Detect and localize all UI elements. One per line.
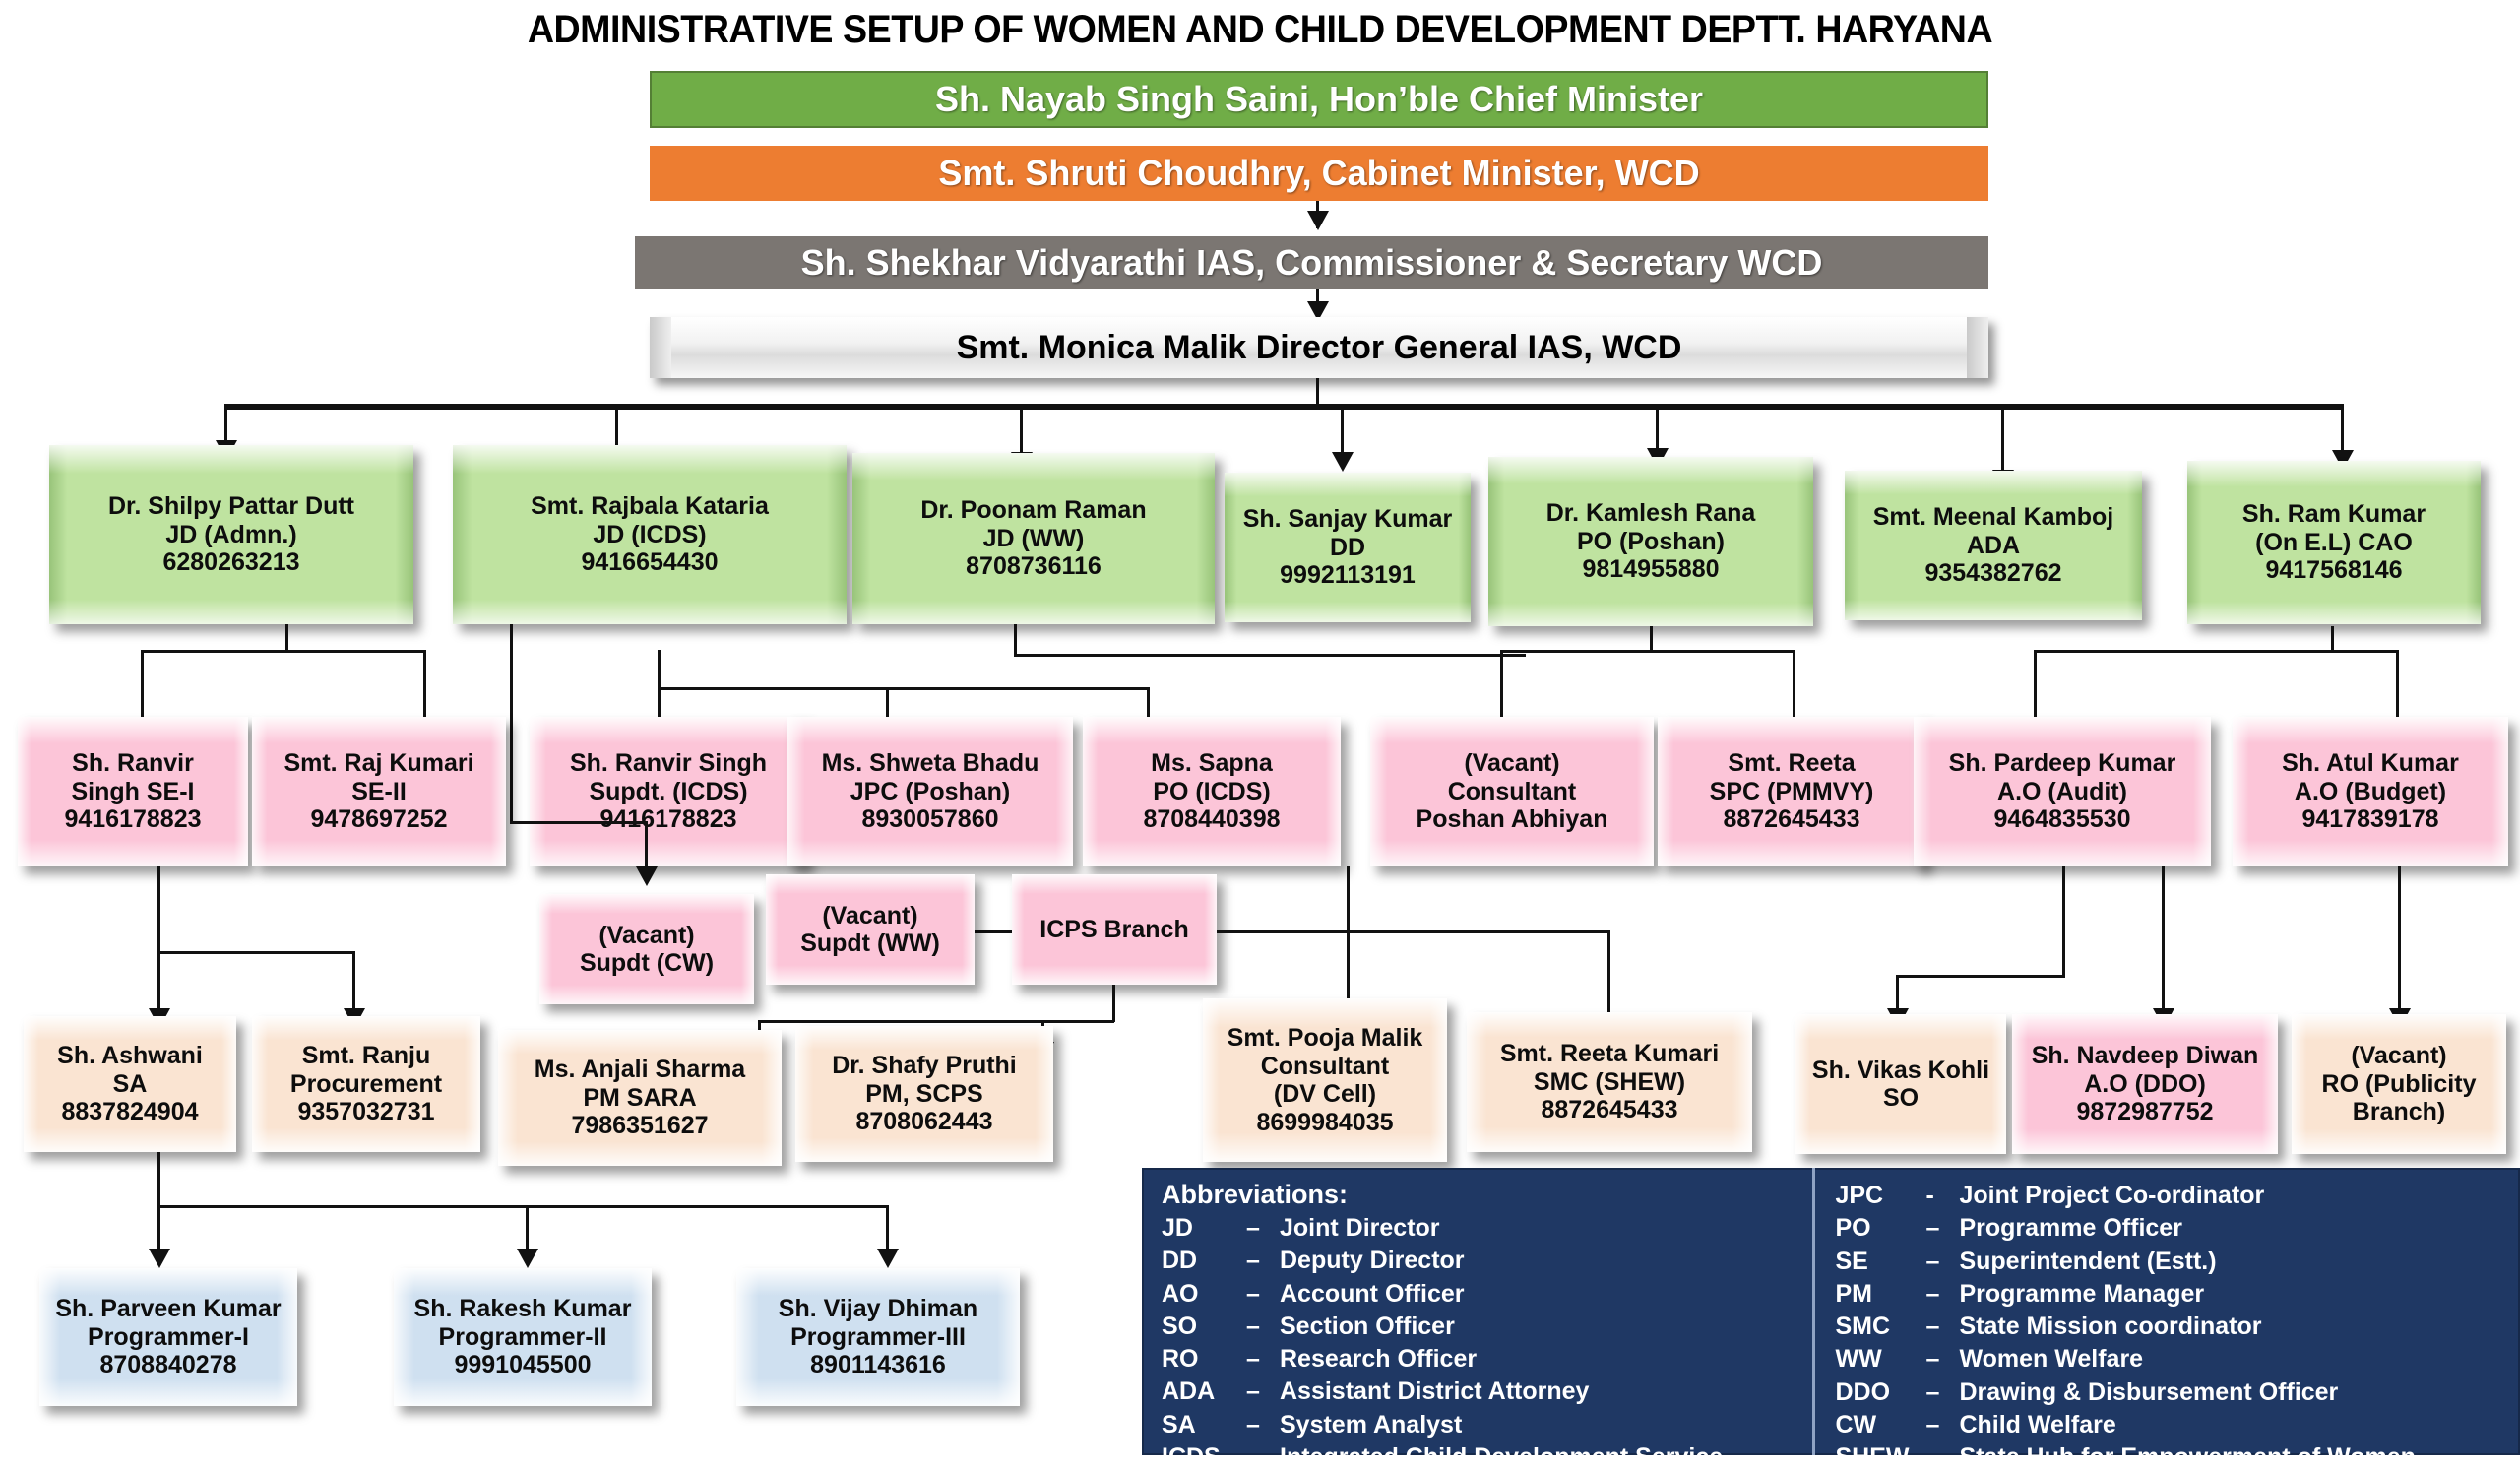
abbreviation-row: SO–Section Officer — [1162, 1311, 1795, 1343]
connector-ro-drop — [2398, 866, 2401, 1022]
abbreviation-value: Research Officer — [1280, 1343, 1477, 1376]
abbreviation-row: SMC–State Mission coordinator — [1835, 1311, 2502, 1343]
abbreviation-key: JPC — [1835, 1180, 1925, 1212]
abbreviation-value: Superintendent (Estt.) — [1959, 1246, 2216, 1278]
node-dd[interactable]: Sh. Sanjay Kumar DD 9992113191 — [1225, 473, 1471, 622]
abbreviation-key: AO — [1162, 1278, 1246, 1311]
abbreviation-dash: – — [1246, 1278, 1280, 1311]
node-phone: 9992113191 — [1280, 561, 1416, 590]
abbreviation-row: DDO–Drawing & Disbursement Officer — [1835, 1377, 2502, 1409]
abbreviation-value: Child Welfare — [1959, 1409, 2115, 1442]
node-name: Smt. Meenal Kamboj — [1873, 503, 2114, 532]
connector-cw-bus-left — [157, 951, 354, 954]
abbreviation-key: PO — [1835, 1212, 1925, 1245]
abbreviation-key: CW — [1835, 1409, 1925, 1442]
node-procurement[interactable]: Smt. Ranju Procurement 9357032731 — [252, 1016, 480, 1152]
abbreviations-heading: Abbreviations: — [1162, 1180, 1795, 1210]
connector-jdww-bus — [1014, 654, 1526, 657]
arrowhead-programmer-1 — [149, 1249, 170, 1268]
node-consultant-dv-cell[interactable]: Smt. Pooja Malik Consultant (DV Cell) 86… — [1203, 998, 1447, 1162]
chief-minister-banner: Sh. Nayab Singh Saini, Hon’ble Chief Min… — [650, 71, 1988, 128]
abbreviation-value: Joint Project Co-ordinator — [1959, 1180, 2264, 1212]
node-line-1: Ms. Anjali Sharma — [535, 1056, 745, 1084]
abbreviation-dash: – — [1246, 1245, 1280, 1277]
connector-programmer-bus — [157, 1205, 888, 1208]
node-ao-ddo[interactable]: Sh. Navdeep Diwan A.O (DDO) 9872987752 — [2012, 1014, 2278, 1154]
abbreviation-dash: – — [1246, 1409, 1280, 1442]
node-line-2: SE-II — [351, 778, 407, 806]
node-line-1: Sh. Ranvir — [72, 749, 194, 778]
connector-jdadmn-bus — [141, 650, 426, 653]
node-line-1: Dr. Shafy Pruthi — [832, 1052, 1017, 1080]
arrowhead-supdt-cw — [636, 866, 658, 886]
node-line-1: Sh. Ranvir Singh — [570, 749, 767, 778]
node-line-2: PO (ICDS) — [1153, 778, 1270, 806]
abbreviation-key: JD — [1162, 1212, 1246, 1245]
node-programmer-2[interactable]: Sh. Rakesh Kumar Programmer-II 999104550… — [394, 1268, 652, 1406]
abbreviation-dash: – — [1925, 1442, 1959, 1474]
abbreviation-dash: – — [1925, 1409, 1959, 1442]
abbreviation-value: Joint Director — [1280, 1212, 1440, 1245]
node-cao[interactable]: Sh. Ram Kumar (On E.L) CAO 9417568146 — [2187, 461, 2481, 624]
abbreviation-dash: – — [1925, 1278, 1959, 1311]
connector-green-bus — [224, 404, 2341, 410]
node-line-2: RO (Publicity — [2322, 1070, 2477, 1099]
connector-poposhan-bus — [1500, 650, 1795, 653]
node-line-3: 9416178823 — [599, 805, 736, 834]
node-line-2: Programmer-II — [439, 1323, 607, 1352]
connector-se1-to-sa — [157, 866, 160, 951]
node-line-1: Sh. Navdeep Diwan — [2032, 1042, 2259, 1070]
node-line-1: (Vacant) — [598, 922, 694, 950]
node-line-1: ICPS Branch — [1039, 916, 1188, 944]
node-line-1: Smt. Reeta — [1728, 749, 1855, 778]
arrowhead-green-4 — [1332, 452, 1354, 472]
page-title: ADMINISTRATIVE SETUP OF WOMEN AND CHILD … — [76, 8, 2444, 52]
connector-poposhan-stem — [1650, 626, 1653, 652]
node-phone: 9417568146 — [2265, 556, 2402, 585]
abbreviation-row: JD–Joint Director — [1162, 1212, 1795, 1245]
abbreviation-key: SHEW — [1835, 1442, 1925, 1474]
node-line-2: SMC (SHEW) — [1534, 1068, 1685, 1097]
abbreviation-dash: – — [1246, 1376, 1280, 1408]
connector-so-bus — [1896, 975, 2065, 978]
node-programmer-1[interactable]: Sh. Parveen Kumar Programmer-I 870884027… — [39, 1268, 297, 1406]
connector-jdadmn-stem — [285, 624, 288, 652]
node-line-2: PM SARA — [583, 1084, 696, 1113]
node-line-3: 8930057860 — [861, 805, 998, 834]
node-line-1: Smt. Pooja Malik — [1228, 1024, 1423, 1053]
connector-jdicds-spine — [510, 624, 513, 821]
node-name: Dr. Poonam Raman — [920, 496, 1146, 525]
node-section-officer[interactable]: Sh. Vikas Kohli SO — [1795, 1014, 2006, 1154]
node-line-3: 9478697252 — [310, 805, 447, 834]
abbreviations-panel: Abbreviations: JD–Joint DirectorDD–Deput… — [1142, 1168, 2520, 1455]
abbreviation-dash: – — [1925, 1311, 1959, 1343]
node-po-poshan[interactable]: Dr. Kamlesh Rana PO (Poshan) 9814955880 — [1488, 457, 1813, 626]
node-line-2: Programmer-I — [88, 1323, 249, 1352]
node-spc-pmmvy[interactable]: Smt. Reeta SPC (PMMVY) 8872645433 — [1658, 717, 1925, 866]
connector-icps-stem — [1112, 985, 1115, 1022]
abbreviation-row: RO–Research Officer — [1162, 1343, 1795, 1376]
abbreviation-value: Account Officer — [1280, 1278, 1465, 1311]
node-pm-scps[interactable]: Dr. Shafy Pruthi PM, SCPS 8708062443 — [795, 1026, 1053, 1162]
connector-supdtcw-bus — [510, 821, 648, 824]
node-line-3: (DV Cell) — [1274, 1080, 1376, 1109]
node-ada[interactable]: Smt. Meenal Kamboj ADA 9354382762 — [1845, 471, 2142, 620]
node-line-2: SA — [113, 1070, 148, 1099]
node-system-analyst[interactable]: Sh. Ashwani SA 8837824904 — [24, 1016, 236, 1152]
abbreviation-dash: – — [1925, 1246, 1959, 1278]
node-line-3: 9464835530 — [1993, 805, 2130, 834]
node-line-2: Programmer-III — [790, 1323, 966, 1352]
node-name: Sh. Ram Kumar — [2242, 500, 2425, 529]
node-line-2: Supdt (WW) — [800, 929, 940, 958]
abbreviation-key: RO — [1162, 1343, 1246, 1376]
abbreviation-value: Programme Manager — [1959, 1278, 2204, 1311]
abbreviation-row: DD–Deputy Director — [1162, 1245, 1795, 1277]
node-line-3: Branch) — [2353, 1098, 2445, 1126]
abbreviations-column-right: JPC-Joint Project Co-ordinatorPO–Program… — [1812, 1168, 2520, 1455]
abbreviation-key: DD — [1162, 1245, 1246, 1277]
node-phone: 9416654430 — [581, 548, 718, 577]
connector-icps-right-bus — [1217, 930, 1610, 933]
connector-so-spine — [2062, 866, 2065, 977]
node-line-2: Singh SE-I — [72, 778, 195, 806]
connector-cao-stem — [2331, 626, 2334, 652]
node-line-1: Sh. Rakesh Kumar — [414, 1295, 632, 1323]
node-role: (On E.L) CAO — [2255, 529, 2413, 557]
node-line-4: 8699984035 — [1256, 1109, 1393, 1137]
director-general-banner: Smt. Monica Malik Director General IAS, … — [650, 317, 1988, 378]
abbreviation-dash: – — [1246, 1311, 1280, 1343]
node-line-2: PM, SCPS — [865, 1080, 982, 1109]
node-phone: 8708736116 — [966, 552, 1102, 581]
node-se-2[interactable]: Smt. Raj Kumari SE-II 9478697252 — [252, 717, 506, 866]
connector-cao-bus — [2034, 650, 2398, 653]
arrowhead-programmer-2 — [517, 1249, 538, 1268]
org-chart-canvas: ADMINISTRATIVE SETUP OF WOMEN AND CHILD … — [0, 0, 2520, 1455]
node-line-3: 9416178823 — [64, 805, 201, 834]
abbreviation-row: SHEW–State Hub for Empowerment of Women — [1835, 1442, 2502, 1474]
node-name: Sh. Sanjay Kumar — [1243, 505, 1453, 534]
commissioner-banner: Sh. Shekhar Vidyarathi IAS, Commissioner… — [635, 236, 1988, 289]
node-line-1: Ms. Sapna — [1151, 749, 1273, 778]
node-role: ADA — [1967, 532, 2020, 560]
abbreviation-value: Assistant District Attorney — [1280, 1376, 1589, 1408]
abbreviation-dash: – — [1246, 1212, 1280, 1245]
node-line-2: A.O (DDO) — [2084, 1070, 2206, 1099]
cabinet-minister-banner: Smt. Shruti Choudhry, Cabinet Minister, … — [650, 146, 1988, 201]
connector-jdicds-bus — [658, 687, 1150, 690]
node-line-1: Sh. Vikas Kohli — [1812, 1057, 1989, 1085]
node-line-1: Ms. Shweta Bhadu — [822, 749, 1039, 778]
node-jd-ww[interactable]: Dr. Poonam Raman JD (WW) 8708736116 — [852, 453, 1215, 624]
node-line-2: Supdt (CW) — [580, 949, 714, 978]
node-line-1: Sh. Parveen Kumar — [55, 1295, 281, 1323]
abbreviations-list-right: JPC-Joint Project Co-ordinatorPO–Program… — [1835, 1180, 2502, 1474]
node-line-2: Procurement — [290, 1070, 442, 1099]
node-programmer-3[interactable]: Sh. Vijay Dhiman Programmer-III 89011436… — [736, 1268, 1020, 1406]
node-role: JD (Admn.) — [165, 521, 296, 549]
node-line-3: 8837824904 — [61, 1098, 198, 1126]
node-jpc-poshan[interactable]: Ms. Shweta Bhadu JPC (Poshan) 8930057860 — [787, 717, 1073, 866]
abbreviation-value: Section Officer — [1280, 1311, 1455, 1343]
abbreviation-row: ICDS–Integrated Child Development Servic… — [1162, 1442, 1795, 1474]
abbreviation-row: ADA–Assistant District Attorney — [1162, 1376, 1795, 1408]
abbreviation-value: Women Welfare — [1959, 1343, 2143, 1376]
node-line-3: 8872645433 — [1723, 805, 1859, 834]
node-line-1: (Vacant) — [1464, 749, 1559, 778]
abbreviation-value: State Hub for Empowerment of Women — [1959, 1442, 2415, 1474]
director-general-label: Smt. Monica Malik Director General IAS, … — [957, 329, 1682, 367]
node-smc-shew[interactable]: Smt. Reeta Kumari SMC (SHEW) 8872645433 — [1467, 1012, 1752, 1152]
abbreviation-dash: – — [1246, 1442, 1280, 1474]
node-role: PO (Poshan) — [1577, 528, 1725, 556]
abbreviation-dash: – — [1925, 1212, 1959, 1245]
node-line-3: 8708440398 — [1143, 805, 1280, 834]
node-line-2: SO — [1883, 1084, 1919, 1113]
connector-dg-stem — [1316, 378, 1319, 404]
node-line-1: Sh. Atul Kumar — [2282, 749, 2459, 778]
abbreviation-row: AO–Account Officer — [1162, 1278, 1795, 1311]
node-line-3: 8901143616 — [810, 1351, 946, 1379]
node-line-3: 9991045500 — [454, 1351, 591, 1379]
node-supdt-cw[interactable]: (Vacant) Supdt (CW) — [539, 894, 754, 1004]
node-name: Dr. Shilpy Pattar Dutt — [108, 492, 354, 521]
node-line-1: (Vacant) — [822, 902, 917, 930]
node-line-3: 8872645433 — [1541, 1096, 1677, 1124]
abbreviation-key: SMC — [1835, 1311, 1925, 1343]
node-line-2: SPC (PMMVY) — [1710, 778, 1874, 806]
connector-sa-spine — [157, 1152, 160, 1207]
node-line-3: 7986351627 — [571, 1112, 708, 1140]
node-line-2: A.O (Budget) — [2295, 778, 2446, 806]
abbreviation-key: SE — [1835, 1246, 1925, 1278]
abbreviations-column-left: Abbreviations: JD–Joint DirectorDD–Deput… — [1142, 1168, 1812, 1455]
abbreviation-dash: – — [1246, 1343, 1280, 1376]
abbreviation-row: PO–Programme Officer — [1835, 1212, 2502, 1245]
node-ao-audit[interactable]: Sh. Pardeep Kumar A.O (Audit) 9464835530 — [1914, 717, 2211, 866]
node-line-3: Poshan Abhiyan — [1417, 805, 1608, 834]
connector-icps-bus — [758, 1020, 1114, 1023]
abbreviation-dash: - — [1925, 1180, 1959, 1212]
abbreviation-key: ICDS — [1162, 1442, 1246, 1474]
abbreviation-value: Drawing & Disbursement Officer — [1959, 1377, 2338, 1409]
node-phone: 6280263213 — [162, 548, 299, 577]
node-icps-branch[interactable]: ICPS Branch — [1012, 874, 1217, 985]
connector-jdww-stem — [1014, 624, 1017, 656]
node-ro-publicity[interactable]: (Vacant) RO (Publicity Branch) — [2292, 1014, 2506, 1154]
node-line-1: Sh. Vijay Dhiman — [779, 1295, 977, 1323]
arrowhead-programmer-3 — [877, 1249, 899, 1268]
node-jd-icds[interactable]: Smt. Rajbala Kataria JD (ICDS) 941665443… — [453, 445, 847, 624]
node-pm-sara[interactable]: Ms. Anjali Sharma PM SARA 7986351627 — [498, 1030, 782, 1166]
abbreviation-row: JPC-Joint Project Co-ordinator — [1835, 1180, 2502, 1212]
node-line-2: JPC (Poshan) — [850, 778, 1011, 806]
node-supdt-icds[interactable]: Sh. Ranvir Singh Supdt. (ICDS) 941617882… — [530, 717, 807, 866]
node-line-1: Smt. Reeta Kumari — [1500, 1040, 1719, 1068]
abbreviation-row: WW–Women Welfare — [1835, 1343, 2502, 1376]
abbreviation-key: DDO — [1835, 1377, 1925, 1409]
abbreviation-value: Deputy Director — [1280, 1245, 1465, 1277]
node-line-2: Supdt. (ICDS) — [589, 778, 747, 806]
connector-ddo-drop — [2162, 866, 2165, 1022]
node-line-2: Consultant — [1448, 778, 1577, 806]
node-ao-budget[interactable]: Sh. Atul Kumar A.O (Budget) 9417839178 — [2233, 717, 2508, 866]
abbreviation-key: SO — [1162, 1311, 1246, 1343]
node-role: DD — [1330, 534, 1365, 562]
abbreviation-key: SA — [1162, 1409, 1246, 1442]
node-line-1: Smt. Ranju — [302, 1042, 431, 1070]
node-name: Smt. Rajbala Kataria — [531, 492, 769, 521]
node-role: JD (WW) — [983, 525, 1085, 553]
node-line-2: A.O (Audit) — [1997, 778, 2127, 806]
node-phone: 9354382762 — [1924, 559, 2061, 588]
abbreviation-value: System Analyst — [1280, 1409, 1462, 1442]
abbreviation-row: SA–System Analyst — [1162, 1409, 1795, 1442]
abbreviations-list-left: JD–Joint DirectorDD–Deputy DirectorAO–Ac… — [1162, 1212, 1795, 1474]
node-line-1: Sh. Pardeep Kumar — [1949, 749, 2176, 778]
abbreviation-value: State Mission coordinator — [1959, 1311, 2261, 1343]
node-consultant-poshan-abhiyan[interactable]: (Vacant) Consultant Poshan Abhiyan — [1370, 717, 1654, 866]
node-phone: 9814955880 — [1582, 555, 1719, 584]
abbreviation-key: WW — [1835, 1343, 1925, 1376]
node-se-1[interactable]: Sh. Ranvir Singh SE-I 9416178823 — [18, 717, 248, 866]
abbreviation-row: CW–Child Welfare — [1835, 1409, 2502, 1442]
arrowhead-commissioner — [1307, 211, 1329, 230]
node-name: Dr. Kamlesh Rana — [1546, 499, 1756, 528]
abbreviation-row: PM–Programme Manager — [1835, 1278, 2502, 1311]
node-line-2: Consultant — [1261, 1053, 1390, 1081]
abbreviation-key: ADA — [1162, 1376, 1246, 1408]
node-role: JD (ICDS) — [593, 521, 706, 549]
abbreviation-value: Programme Officer — [1959, 1212, 2181, 1245]
node-line-1: (Vacant) — [2351, 1042, 2446, 1070]
node-line-1: Sh. Ashwani — [57, 1042, 203, 1070]
node-line-3: 8708840278 — [99, 1351, 236, 1379]
abbreviation-dash: – — [1925, 1377, 1959, 1409]
node-line-3: 8708062443 — [855, 1108, 992, 1136]
abbreviation-dash: – — [1925, 1343, 1959, 1376]
abbreviation-value: Integrated Child Development Service — [1280, 1442, 1723, 1474]
node-supdt-ww[interactable]: (Vacant) Supdt (WW) — [766, 874, 975, 985]
node-line-3: 9872987752 — [2076, 1098, 2213, 1126]
node-line-3: 9417839178 — [2301, 805, 2438, 834]
node-line-3: 9357032731 — [297, 1098, 434, 1126]
abbreviation-row: SE–Superintendent (Estt.) — [1835, 1246, 2502, 1278]
abbreviation-key: PM — [1835, 1278, 1925, 1311]
node-jd-admn[interactable]: Dr. Shilpy Pattar Dutt JD (Admn.) 628026… — [49, 445, 413, 624]
node-line-1: Smt. Raj Kumari — [283, 749, 473, 778]
node-po-icds[interactable]: Ms. Sapna PO (ICDS) 8708440398 — [1083, 717, 1341, 866]
